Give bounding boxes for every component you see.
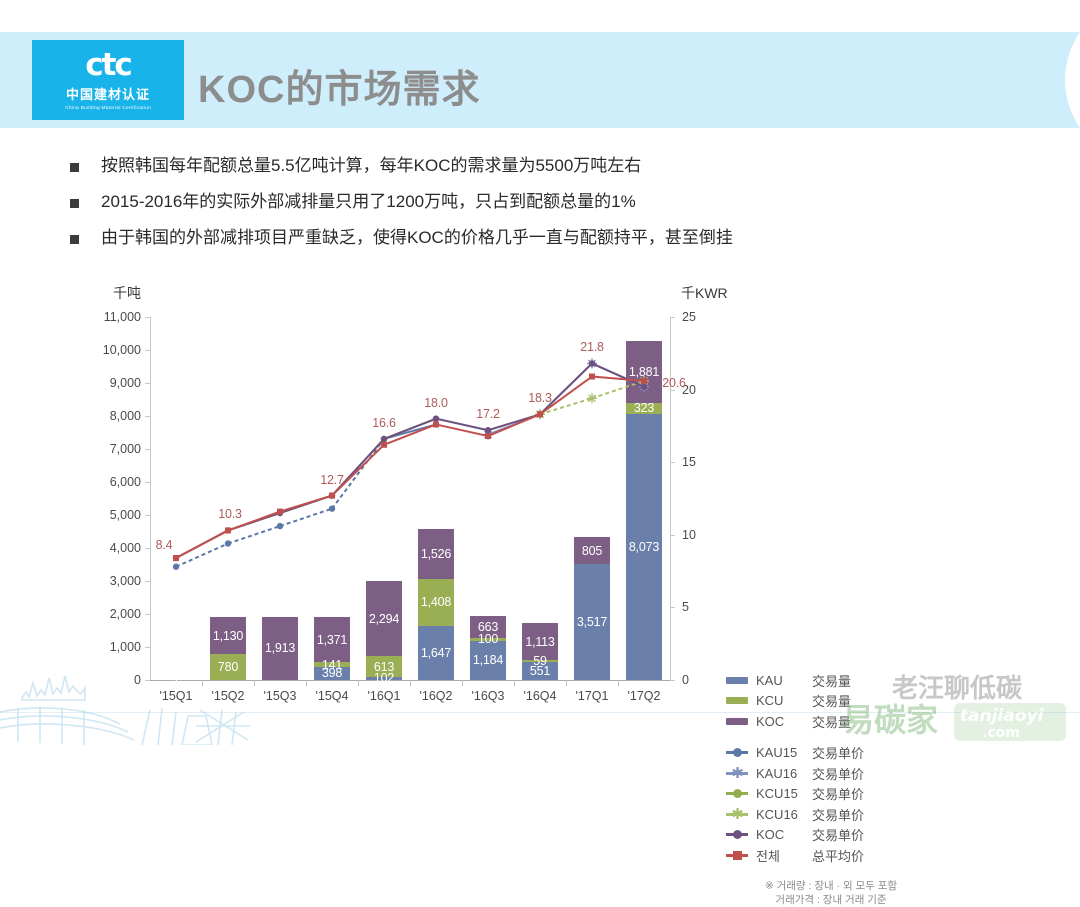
y-axis-left-tick-label: 10,000 [103,343,141,357]
legend-item-name: KOC [756,714,812,729]
line-segment [280,496,332,512]
y-axis-right-tick-label: 0 [682,673,689,687]
bar-value-label: 1,913 [265,641,295,655]
line-point-marker [329,492,335,498]
line-point-marker [277,510,283,516]
legend-item-kcu16-price[interactable]: ✱KCU16交易单价 [726,804,936,825]
line-point-marker [225,527,231,533]
bar-value-label: 1,371 [317,633,347,647]
logo-chinese-text: 中国建材认证 [66,84,150,103]
bullet-square-icon [70,199,79,208]
line-value-label: 16.6 [372,416,396,430]
legend-item-name: KAU [756,673,812,688]
page-title: KOC的市场需求 [198,58,480,113]
legend-item-name: 전체 [756,846,812,865]
y-axis-left-tick [145,581,150,582]
line-value-label: 12.7 [320,473,344,487]
y-axis-title-left: 千吨 [113,283,141,303]
logo-ctc-text: ctc [85,50,131,81]
legend-item-kcu15-price[interactable]: KCU15交易单价 [726,784,936,805]
list-item: 按照韩国每年配额总量5.5亿吨计算，每年KOC的需求量为5500万吨左右 [70,155,970,177]
line-segment [176,530,228,558]
y-axis-left-tick-label: 2,000 [110,607,141,621]
y-axis-right-tick [670,317,675,318]
y-axis-left-tick-label: 4,000 [110,541,141,555]
x-axis-tick-label: '15Q3 [264,689,297,703]
legend-swatch-icon [726,718,748,725]
line-segment [332,439,384,496]
bullet-square-icon [70,235,79,244]
bar-value-label: 1,184 [473,653,503,667]
legend-line-marker-icon [726,828,748,841]
bar-value-label: 1,113 [525,635,554,649]
y-axis-left-tick [145,614,150,615]
line-point-marker [433,415,439,421]
line-point-marker [225,527,231,533]
y-axis-right-tick-label: 10 [682,528,696,542]
legend-footnote-line1: ※ 거래량 : 장내 · 외 모두 포함 [726,879,936,893]
bar-value-label: 663 [478,620,498,634]
line-point-marker [173,555,179,561]
x-axis-separator [306,680,307,686]
legend-item-desc: 交易单价 [812,764,864,783]
bar-value-label: 1,526 [421,547,451,561]
line-value-label: 8.4 [156,538,173,552]
line-value-label: 20.6 [662,376,686,390]
line-segment [176,530,228,558]
y-axis-left-tick-label: 5,000 [110,508,141,522]
x-axis-separator [358,680,359,686]
line-value-label: 17.2 [476,407,500,421]
line-segment [280,496,332,513]
y-axis-left-tick [145,515,150,516]
line-point-marker [589,374,595,380]
bar-value-label: 1,130 [213,629,243,643]
x-axis-separator [254,680,255,686]
decorative-skyline-graphic [0,650,250,745]
x-axis-separator [462,680,463,686]
line-segment [436,424,488,436]
y-axis-left-tick-label: 8,000 [110,409,141,423]
line-value-label: 21.8 [580,340,604,354]
line-value-label: 18.0 [424,396,448,410]
line-point-marker [225,527,231,533]
y-axis-left-tick [145,482,150,483]
legend-item-name: KOC [756,827,812,842]
watermark-brand-text: 易碳家 [842,701,938,739]
legend-line-marker-icon [726,787,748,800]
x-axis-separator [514,680,515,686]
legend-item-desc: 交易单价 [812,805,864,824]
bar-value-label: 1,647 [421,646,451,660]
line-point-marker [329,493,335,499]
line-segment [332,445,384,496]
y-axis-left-tick [145,383,150,384]
legend-item-name: KCU16 [756,807,812,822]
line-point-marker [381,436,387,442]
watermark: 老汪聊低碳 易碳家 tanjiaoyi .com tanjiaoyi .com [832,663,1072,745]
y-axis-left-tick-label: 11,000 [104,310,141,324]
bar-value-label: 323 [634,401,654,415]
list-item: 2015-2016年的实际外部减排量只用了1200万吨，只占到配额总量的1% [70,191,970,213]
bar-value-label: 100 [478,632,498,646]
x-axis-tick-label: '16Q2 [420,689,453,703]
line-value-label: 18.3 [528,391,552,405]
line-point-marker [433,421,439,427]
line-point-marker [433,415,439,421]
y-axis-title-right: 千KWR [681,283,728,303]
line-point-marker [277,510,283,516]
legend-swatch-icon [726,697,748,704]
y-axis-right-line [670,317,671,680]
logo-english-text: China Building Material Certification [65,105,151,111]
line-segment [280,509,332,526]
legend-item-desc: 交易单价 [812,743,864,762]
line-point-marker [329,492,335,498]
legend-item-전체-price[interactable]: 전체总平均价 [726,845,936,866]
line-segment [280,496,332,513]
legend-swatch-icon [726,677,748,684]
bar-value-label: 1,881 [629,365,659,379]
y-axis-left-tick [145,449,150,450]
line-point-marker [381,436,387,442]
line-segment [540,363,592,414]
line-point-marker [535,409,545,419]
bar-value-label: 2,294 [369,612,399,626]
line-point-marker [173,564,179,570]
bar-value-label: 8,073 [629,540,659,554]
y-axis-left-tick-label: 7,000 [110,442,141,456]
bullet-text: 按照韩国每年配额总量5.5亿吨计算，每年KOC的需求量为5500万吨左右 [101,155,641,177]
line-point-marker [485,427,491,433]
legend-line-marker-icon: ✱ [726,767,748,780]
legend-item-kau16-price[interactable]: ✱KAU16交易单价 [726,763,936,784]
line-point-marker [381,442,387,448]
line-point-marker [587,393,597,403]
bar-value-label: 805 [582,544,602,558]
line-point-marker [587,358,597,368]
bullet-text: 由于韩国的外部减排项目严重缺乏，使得KOC的价格几乎一直与配额持平，甚至倒挂 [101,227,733,249]
y-axis-left-tick [145,317,150,318]
line-segment [228,526,280,543]
line-point-marker [225,540,231,546]
line-point-marker [329,505,335,511]
legend-item-name: KCU15 [756,786,812,801]
y-axis-right-tick [670,680,675,681]
x-axis-separator [410,680,411,686]
bar-value-label: 141 [322,658,342,672]
x-axis-tick-label: '15Q4 [316,689,349,703]
line-segment [176,544,228,567]
line-point-marker [589,360,595,366]
legend-footnote-line2: 거래가격 : 장내 거래 기준 [726,893,936,907]
y-axis-right-tick [670,462,675,463]
y-axis-right-tick-label: 15 [682,455,696,469]
y-axis-right-tick-label: 25 [682,310,696,324]
line-point-marker [485,433,491,439]
line-point-marker [381,436,387,442]
legend-item-desc: 交易单价 [812,825,864,844]
y-axis-right-tick-label: 5 [682,600,689,614]
list-item: 由于韩国的外部减排项目严重缺乏，使得KOC的价格几乎一直与配额持平，甚至倒挂 [70,227,970,249]
legend-footnote: ※ 거래량 : 장내 · 외 모두 포함 거래가격 : 장내 거래 기준 [726,879,936,907]
line-point-marker [483,430,493,440]
y-axis-left-tick-label: 6,000 [110,475,141,489]
y-axis-right-tick [670,535,675,536]
y-axis-left-tick [145,647,150,648]
svg-text:.com: .com [982,725,1020,741]
legend-line-marker-icon [726,746,748,759]
y-axis-left-tick [145,416,150,417]
bar-value-label: 613 [374,660,394,674]
x-axis-separator [618,680,619,686]
line-segment [540,363,592,414]
line-segment [176,530,228,558]
watermark-top-text: 老汪聊低碳 [892,674,1023,704]
y-axis-left-tick [145,548,150,549]
line-point-marker [277,509,283,515]
legend-item-kau15-price[interactable]: KAU15交易单价 [726,743,936,764]
x-axis-tick-label: '17Q2 [628,689,661,703]
line-point-marker [535,409,545,419]
line-point-marker [537,411,543,417]
legend-item-koc-price[interactable]: KOC交易单价 [726,825,936,846]
bar-value-label: 3,517 [577,615,607,629]
y-axis-left-tick-label: 9,000 [110,376,141,390]
legend-item-name: KAU16 [756,766,812,781]
line-point-marker [537,411,543,417]
bullet-text: 2015-2016年的实际外部减排量只用了1200万吨，只占到配额总量的1% [101,191,636,213]
line-value-label: 10.3 [218,507,242,521]
combo-chart: 千吨 千KWR 01,0002,0003,0004,0005,0006,0007… [0,270,1080,710]
line-segment [332,439,384,496]
bullet-list: 按照韩国每年配额总量5.5亿吨计算，每年KOC的需求量为5500万吨左右 201… [70,155,970,263]
y-axis-right-tick [670,607,675,608]
line-point-marker [173,555,179,561]
legend-item-name: KAU15 [756,745,812,760]
y-axis-left-tick-label: 3,000 [110,574,141,588]
bar-value-label: 59 [533,654,547,668]
legend-item-desc: 交易单价 [812,784,864,803]
line-point-marker [433,421,439,427]
x-axis-tick-label: '17Q1 [576,689,609,703]
bar-value-label: 1,408 [421,595,451,609]
line-point-marker [277,523,283,529]
bullet-square-icon [70,163,79,172]
legend-line-marker-icon [726,849,748,862]
y-axis-left-tick [145,350,150,351]
svg-text:tanjiaoyi: tanjiaoyi [960,706,1045,726]
legend-item-name: KCU [756,693,812,708]
x-axis-separator [566,680,567,686]
x-axis-tick-label: '16Q4 [524,689,557,703]
line-point-marker [173,555,179,561]
x-axis-tick-label: '16Q1 [368,689,401,703]
legend-line-marker-icon: ✱ [726,808,748,821]
logo: ctc 中国建材认证 China Building Material Certi… [32,40,184,120]
legend-item-desc: 总平均价 [812,846,864,865]
y-axis-left-line [150,317,151,680]
x-axis-tick-label: '16Q3 [472,689,505,703]
